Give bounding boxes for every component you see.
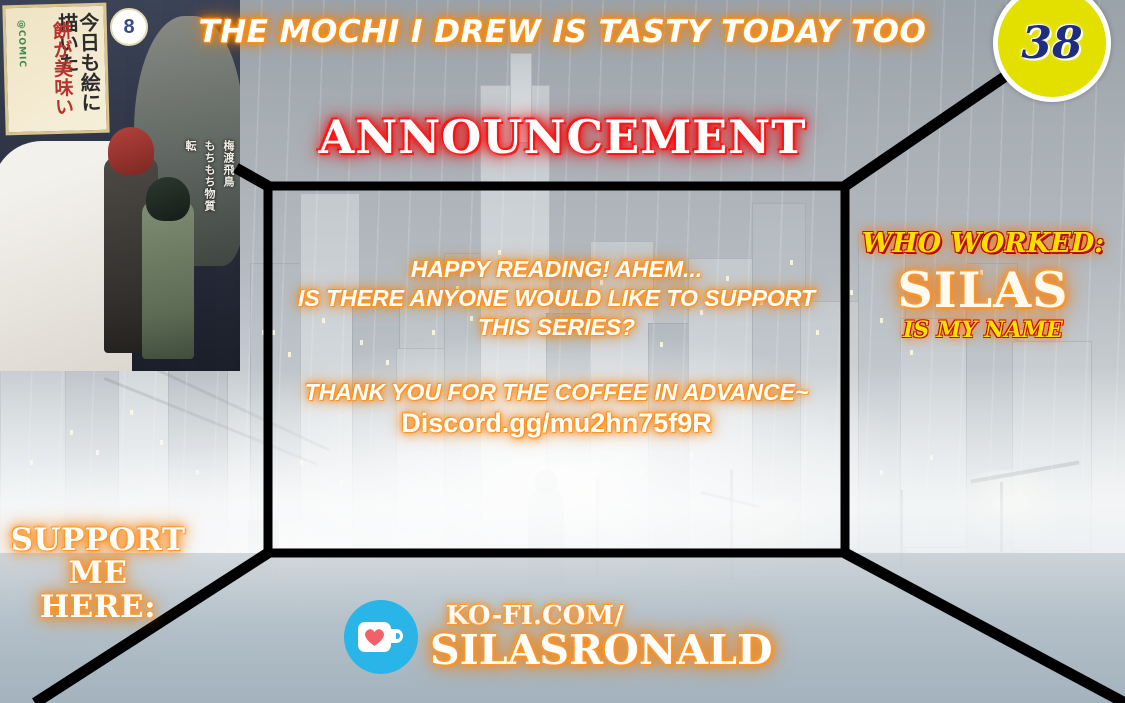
series-cover-thumbnail: 今日も絵に描いた 餅が美味い @COMIC 8 転 もちもち物質 梅渡飛鳥 bbox=[0, 0, 240, 371]
who-worked-label: WHO WORKED: bbox=[852, 228, 1114, 259]
announcement-line-1: HAPPY READING! AHEM... bbox=[268, 256, 845, 283]
discord-invite-link[interactable]: Discord.gg/mu2hn75f9R bbox=[268, 408, 845, 439]
credits-block: WHO WORKED: SILAS IS MY NAME bbox=[852, 228, 1114, 343]
series-title: THE MOCHI I DREW IS TASTY TODAY TOO bbox=[0, 14, 1125, 50]
announcement-body: HAPPY READING! AHEM... IS THERE ANYONE W… bbox=[268, 256, 845, 439]
announcement-line-3: THIS SERIES? bbox=[268, 314, 845, 341]
support-label-line-2: ME HERE: bbox=[8, 557, 188, 624]
support-label-block: SUPPORT ME HERE: bbox=[8, 524, 188, 624]
kofi-handle[interactable]: SILASRONALD bbox=[430, 630, 773, 671]
announcement-line-blank bbox=[268, 343, 845, 377]
credit-tagline: IS MY NAME bbox=[852, 317, 1114, 343]
announcement-line-5: THANK YOU FOR THE COFFEE IN ADVANCE~ bbox=[268, 379, 845, 406]
kofi-link-row[interactable]: KO-FI.COM/ SILASRONALD bbox=[344, 600, 773, 674]
announcement-line-2: IS THERE ANYONE WOULD LIKE TO SUPPORT bbox=[268, 285, 845, 312]
credit-name: SILAS bbox=[852, 261, 1114, 319]
announcement-heading: ANNOUNCEMENT bbox=[0, 110, 1125, 164]
kofi-text-block: KO-FI.COM/ SILASRONALD bbox=[430, 603, 773, 671]
announcement-page: 今日も絵に描いた 餅が美味い @COMIC 8 転 もちもち物質 梅渡飛鳥 38… bbox=[0, 0, 1125, 703]
support-label-line-1: SUPPORT bbox=[8, 524, 188, 557]
kofi-cup-heart-icon bbox=[344, 600, 418, 674]
